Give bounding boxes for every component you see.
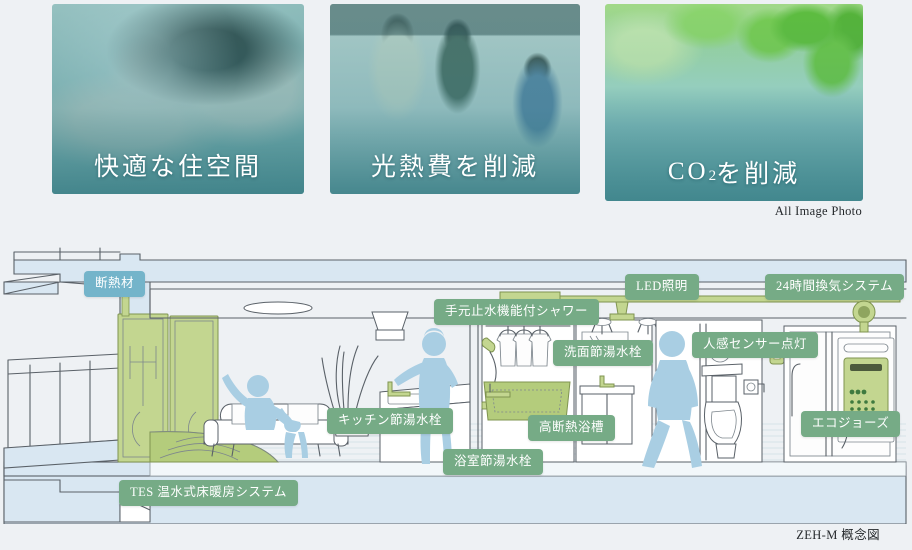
co2-caption-main: CO (668, 158, 709, 186)
hero-photo-row: 快適な住空間 光熱費を削減 CO2を削減 (0, 0, 912, 205)
photo-card-co2[interactable]: CO2を削減 (605, 4, 863, 201)
label-washbasin-faucet[interactable]: 洗面節湯水栓 (553, 340, 653, 366)
co2-caption-tail: を削減 (716, 154, 800, 190)
photo-card-caption: CO2を削減 (605, 143, 863, 201)
label-shower-stop-valve[interactable]: 手元止水機能付シャワー (434, 299, 599, 325)
label-24h-ventilation[interactable]: 24時間換気システム (765, 274, 904, 300)
water-heater-closet (784, 301, 896, 462)
label-bathroom-faucet[interactable]: 浴室節湯水栓 (443, 449, 543, 475)
label-insulation[interactable]: 断熱材 (84, 271, 145, 297)
photo-card-comfort[interactable]: 快適な住空間 (52, 4, 304, 194)
label-kitchen-faucet[interactable]: キッチン節湯水栓 (327, 408, 453, 434)
figure-caption: ZEH-M 概念図 (796, 524, 880, 543)
label-eco-jaws-heater[interactable]: エコジョーズ (801, 411, 900, 437)
photo-card-caption: 光熱費を削減 (330, 136, 580, 194)
label-tes-floor-heating[interactable]: TES 温水式床暖房システム (119, 480, 298, 506)
image-credit: All Image Photo (775, 204, 862, 219)
photo-card-caption: 快適な住空間 (52, 136, 304, 194)
label-led-lighting[interactable]: LED照明 (625, 274, 699, 300)
label-motion-sensor-light[interactable]: 人感センサー点灯 (692, 332, 818, 358)
photo-card-utility-cost[interactable]: 光熱費を削減 (330, 4, 580, 194)
co2-caption-subscript: 2 (709, 168, 717, 185)
label-insulated-bathtub[interactable]: 高断熱浴槽 (528, 415, 615, 441)
